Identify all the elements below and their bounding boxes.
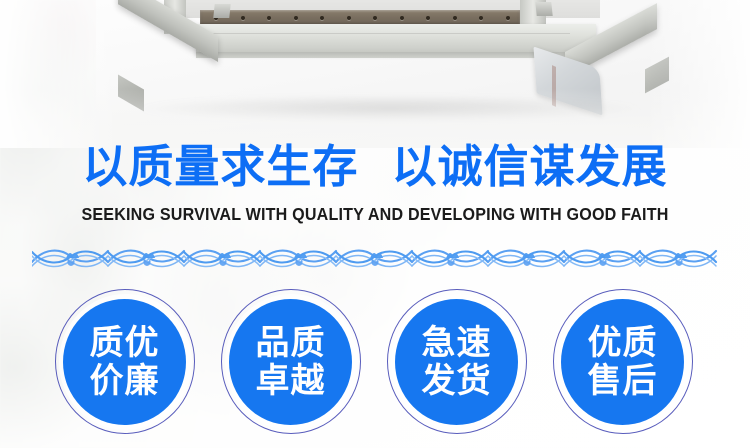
- badge-fill: 优质 售后: [561, 299, 684, 425]
- badge-quality-excellence[interactable]: 品质 卓越: [220, 288, 364, 436]
- badge-label-line2: 发货: [422, 362, 492, 400]
- badge-fast-shipping[interactable]: 急速 发货: [386, 288, 530, 436]
- badge-after-sales[interactable]: 优质 售后: [552, 288, 696, 436]
- badge-label-line2: 卓越: [256, 362, 326, 400]
- product-photo: [0, 0, 750, 148]
- badge-label-line1: 品质: [256, 324, 326, 362]
- page-title: 以质量求生存 以诚信谋发展: [0, 143, 750, 191]
- badge-fill: 质优 价廉: [63, 299, 186, 425]
- badge-quality-price[interactable]: 质优 价廉: [54, 288, 198, 436]
- badge-label-line1: 优质: [588, 324, 658, 362]
- selling-point-badges: 质优 价廉 品质 卓越 急速 发货 优质 售后: [0, 288, 750, 438]
- badge-label-line2: 售后: [588, 362, 658, 400]
- ribbon-wave-icon: [32, 246, 718, 276]
- badge-label-line2: 价廉: [90, 362, 160, 400]
- promo-banner: 以质量求生存 以诚信谋发展 SEEKING SURVIVAL WITH QUAL…: [0, 0, 750, 448]
- badge-label-line1: 急速: [422, 324, 492, 362]
- badge-fill: 品质 卓越: [229, 299, 352, 425]
- page-subtitle: SEEKING SURVIVAL WITH QUALITY AND DEVELO…: [30, 204, 720, 225]
- badge-label-line1: 质优: [90, 324, 160, 362]
- ribbon-wave-divider: [32, 246, 718, 276]
- product-photo-fade: [0, 0, 750, 148]
- badge-fill: 急速 发货: [395, 299, 518, 425]
